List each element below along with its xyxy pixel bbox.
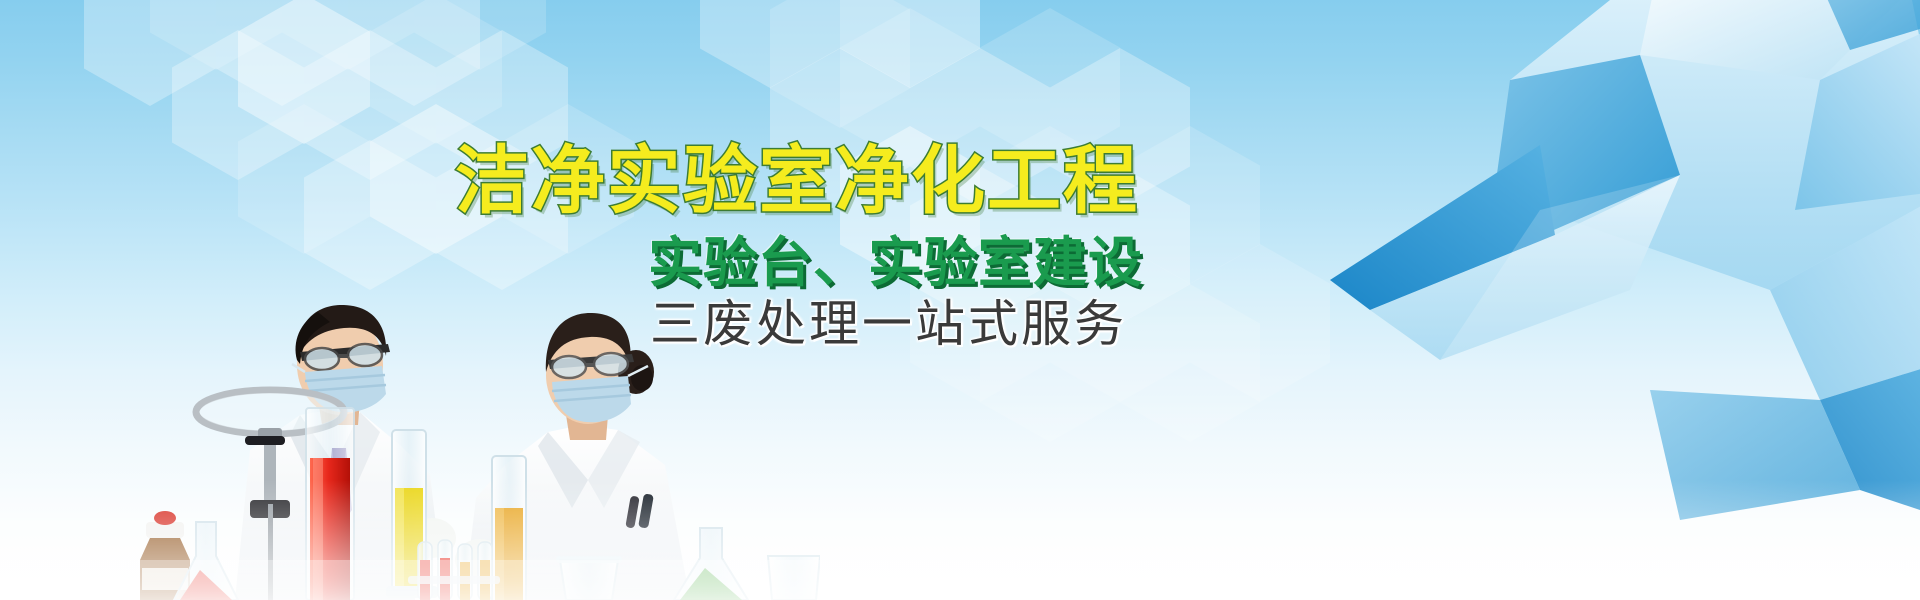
- page-title: 洁净实验室净化工程: [455, 143, 1139, 219]
- two-scientists-in-laboratory: [0, 260, 820, 600]
- banner-root: 洁净实验室净化工程 实验台、实验室建设 三废处理一站式服务: [0, 0, 1920, 600]
